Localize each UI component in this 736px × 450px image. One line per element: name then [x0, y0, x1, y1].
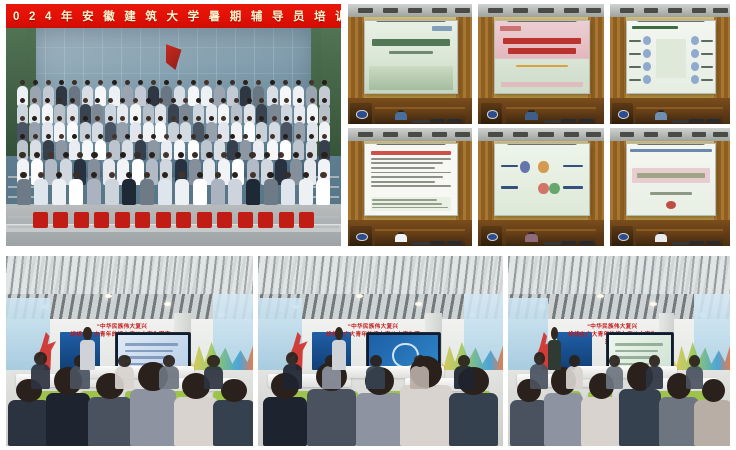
- banner-text: 2 0 2 4 年 安 徽 建 筑 大 学 暑 期 辅 导 员 培 训: [6, 8, 341, 24]
- wood-wall-right: [456, 17, 472, 97]
- midground-participant: [283, 364, 303, 389]
- seated-participant: [581, 397, 621, 446]
- ceiling: [610, 128, 730, 141]
- screen-roller: [376, 20, 446, 22]
- red-stool: [115, 212, 130, 228]
- participant-head: [163, 355, 175, 367]
- ceiling-light: [668, 132, 682, 137]
- seated-participant: [694, 400, 730, 446]
- stage-chair: [579, 241, 594, 245]
- participant-head: [414, 355, 426, 367]
- red-stool: [299, 212, 314, 228]
- diagram-label-left: [629, 66, 641, 68]
- downlight: [164, 302, 171, 306]
- stage-chair: [579, 119, 594, 123]
- seated-participant: [174, 397, 218, 446]
- seated-participant: [356, 393, 403, 446]
- ceiling: [478, 128, 604, 141]
- podium: [612, 226, 632, 246]
- screen-roller: [637, 143, 704, 145]
- lecture-panel-3[interactable]: [610, 4, 730, 124]
- participant-head: [286, 352, 298, 365]
- lecture-hall-scene: [348, 4, 472, 124]
- midground-participant: [204, 366, 224, 389]
- ceiling-light: [692, 132, 706, 137]
- laptop: [672, 242, 689, 245]
- stage-chair: [706, 119, 720, 123]
- slide-title-bar: [371, 151, 452, 155]
- diagram-center-box: [656, 39, 686, 78]
- presenter-head: [83, 327, 91, 340]
- slide-title-bar: [637, 173, 705, 179]
- podium: [481, 226, 502, 246]
- presenter-head: [335, 327, 343, 340]
- seated-participant: [544, 393, 584, 446]
- wood-wall-right: [714, 17, 730, 97]
- diagram-node-right: [691, 36, 699, 45]
- stage-chair: [689, 119, 703, 123]
- ceiling-light: [358, 8, 373, 13]
- midground-participant: [366, 366, 386, 389]
- red-stool: [279, 212, 294, 228]
- group-photo-image: 2 0 2 4 年 安 徽 建 筑 大 学 暑 期 辅 导 员 培 训: [6, 4, 341, 246]
- diagram-label-left: [629, 40, 641, 42]
- stage: [478, 98, 604, 124]
- ceiling-light: [620, 132, 634, 137]
- participant-head: [534, 352, 545, 365]
- seated-participant: [46, 393, 90, 446]
- ceiling-light: [513, 8, 528, 13]
- red-stool: [217, 212, 232, 228]
- ceiling-panel: [258, 256, 503, 294]
- ceiling-light: [408, 8, 423, 13]
- slide-note-line: [372, 203, 442, 205]
- seminar-room-panel-1[interactable]: “中华民族伟大复兴终将在广大青年的接力奋斗中变为现实”: [6, 256, 253, 446]
- downlight: [650, 302, 657, 306]
- slide-note-line: [372, 199, 436, 201]
- lecture-hall-scene: [610, 128, 730, 246]
- slide-seal-icon: [666, 201, 677, 209]
- slide-text-line: [371, 167, 435, 169]
- downlight: [356, 294, 363, 298]
- speaker-body: [395, 234, 407, 242]
- wood-wall-right: [588, 17, 604, 97]
- podium: [612, 103, 632, 124]
- slide-campus-image: [369, 66, 453, 90]
- ceiling: [610, 4, 730, 17]
- participant-head: [34, 352, 46, 365]
- lecture-hall-scene: [610, 4, 730, 124]
- diagram-node-left: [643, 62, 651, 71]
- ceiling-light: [564, 132, 579, 137]
- stage-chair: [706, 241, 720, 245]
- wall-slogan-line: “中华民族伟大复兴: [566, 323, 659, 331]
- red-stool: [135, 212, 150, 228]
- seated-participant: [88, 397, 132, 446]
- slide-heading: [632, 26, 678, 29]
- diagram-node-left: [643, 49, 651, 58]
- ceiling-light: [644, 8, 658, 13]
- banner: 2 0 2 4 年 安 徽 建 筑 大 学 暑 期 辅 导 员 培 训: [6, 4, 341, 28]
- group-photo-panel[interactable]: 2 0 2 4 年 安 徽 建 筑 大 学 暑 期 辅 导 员 培 训: [6, 4, 341, 246]
- seated-participant: [8, 400, 50, 446]
- seated-participant: [449, 393, 498, 446]
- ceiling-light: [488, 8, 503, 13]
- lecture-panel-2[interactable]: [478, 4, 604, 124]
- ceiling-light: [432, 132, 447, 137]
- slide-title-bar-2: [508, 48, 575, 54]
- screen-roller: [507, 20, 578, 22]
- participant-head: [689, 355, 700, 367]
- projection-screen: [494, 20, 589, 94]
- screen-roller: [507, 143, 578, 145]
- lecture-hall-scene: [478, 4, 604, 124]
- midground-participant: [159, 366, 179, 389]
- stage-chair: [430, 119, 445, 123]
- red-stool: [238, 212, 253, 228]
- wood-wall-left: [348, 141, 364, 220]
- wood-wall-right: [456, 141, 472, 220]
- slide-title-bar: [503, 38, 581, 44]
- seated-participant: [263, 397, 307, 446]
- crowd-rows: [16, 80, 331, 212]
- screen-roller: [376, 143, 446, 145]
- participant-head: [118, 355, 130, 367]
- slide-text-line: [371, 181, 435, 183]
- seated-participant: [659, 397, 699, 446]
- red-stool: [74, 212, 89, 228]
- speaker-body: [655, 112, 667, 120]
- speaker: [653, 110, 669, 121]
- topic-icon-left: [549, 183, 559, 194]
- slide-logo: [432, 26, 452, 32]
- midground-participant: [686, 366, 704, 389]
- slide-title-bar: [372, 39, 449, 45]
- midground-participant: [410, 366, 430, 389]
- diagram-node-left: [643, 75, 651, 84]
- projection-screen: [364, 143, 458, 216]
- speaker: [653, 232, 669, 242]
- diagram-node-left: [643, 36, 651, 45]
- screen-text-line: [615, 350, 658, 353]
- ceiling-light: [713, 132, 727, 137]
- wood-wall-left: [348, 17, 364, 97]
- red-stool: [258, 212, 273, 228]
- slide-accent-line: [516, 65, 568, 66]
- midground-participant: [115, 366, 135, 389]
- red-stool: [33, 212, 48, 228]
- projection-screen: [364, 20, 458, 94]
- slide-text-line: [371, 176, 444, 178]
- laptop: [544, 120, 562, 123]
- stage: [610, 220, 730, 246]
- stage-chair: [689, 241, 703, 245]
- lecture-panel-4[interactable]: [348, 128, 472, 246]
- ceiling-light: [620, 8, 634, 13]
- stage: [348, 220, 472, 246]
- slide-note-line: [372, 207, 447, 209]
- seminar-room-scene: “中华民族伟大复兴终将在广大青年的接力奋斗中变为现实”: [258, 256, 503, 446]
- speaker: [523, 232, 539, 242]
- laptop: [412, 120, 429, 123]
- wood-wall-left: [610, 141, 626, 220]
- wood-wall-left: [478, 17, 494, 97]
- seated-participant: [510, 400, 548, 446]
- speaker: [393, 232, 409, 242]
- midground-participant: [530, 364, 548, 389]
- red-stool: [176, 212, 191, 228]
- seated-participant: [213, 400, 253, 446]
- laptop: [672, 120, 689, 123]
- projection-screen: [494, 143, 589, 216]
- seated-participant: [400, 385, 451, 446]
- ceiling: [348, 128, 472, 141]
- lecture-hall-scene: [478, 128, 604, 246]
- lecture-panel-1[interactable]: [348, 4, 472, 124]
- topic-label-left: [501, 186, 518, 188]
- diagram-label-right: [701, 66, 713, 68]
- speaker-body: [525, 112, 537, 120]
- diagram-label-right: [701, 53, 713, 55]
- diagram-node-right: [691, 62, 699, 71]
- laptop: [544, 242, 562, 245]
- stage-chair: [447, 241, 462, 245]
- red-stool: [156, 212, 171, 228]
- projection-screen: [626, 143, 717, 216]
- ceiling-light: [455, 8, 470, 13]
- podium: [350, 226, 371, 246]
- projection-screen: [626, 20, 717, 94]
- wood-wall-left: [478, 141, 494, 220]
- red-stool-row: [33, 212, 314, 230]
- red-stool: [197, 212, 212, 228]
- midground-participant: [454, 366, 474, 389]
- presenter: [80, 340, 95, 370]
- ceiling: [478, 4, 604, 17]
- lecture-hall-scene: [348, 128, 472, 246]
- seminar-room-panel-3[interactable]: “中华民族伟大复兴终将在广大青年的接力奋斗中变为现实”: [508, 256, 730, 446]
- participant-head: [458, 355, 470, 367]
- downlight: [597, 294, 604, 298]
- ceiling-light: [383, 132, 398, 137]
- diagram-node-right: [691, 49, 699, 58]
- participant-head: [702, 379, 725, 403]
- ceiling-light: [692, 8, 706, 13]
- ceiling: [348, 4, 472, 17]
- ceiling-light: [538, 132, 553, 137]
- topic-label-left: [501, 165, 518, 167]
- diagram-label-right: [701, 79, 713, 81]
- seated-participant: [307, 389, 356, 446]
- wood-wall-left: [610, 17, 626, 97]
- podium: [481, 103, 502, 124]
- slide-subtitle-bar: [650, 192, 693, 195]
- ceiling-light: [488, 132, 503, 137]
- stage-chair: [430, 241, 445, 245]
- lecture-panel-5[interactable]: [478, 128, 604, 246]
- slide-text-line: [371, 172, 452, 174]
- slide-subtitle-bar: [389, 51, 433, 54]
- wood-wall-right: [714, 141, 730, 220]
- diagram-label-left: [629, 79, 641, 81]
- midground-participant: [606, 366, 624, 389]
- stage-chair: [561, 241, 576, 245]
- speaker-body: [655, 234, 667, 242]
- red-stool: [53, 212, 68, 228]
- ceiling-light: [358, 132, 373, 137]
- ceiling-panel: [508, 256, 730, 294]
- ceiling-panel: [6, 256, 253, 294]
- slide-text-line: [371, 158, 452, 160]
- diagram-node-right: [691, 75, 699, 84]
- slide-header-bar: [630, 149, 712, 153]
- participant-head: [207, 355, 219, 367]
- screen-text-line: [125, 343, 178, 346]
- ceiling-light: [644, 132, 658, 137]
- ceiling-light: [668, 8, 682, 13]
- participant-head: [370, 355, 382, 367]
- speaker-body: [395, 112, 407, 120]
- presenter: [548, 340, 561, 370]
- seated-participant: [619, 389, 661, 446]
- downlight: [105, 294, 112, 298]
- midground-participant: [646, 366, 664, 389]
- seated-participant: [130, 389, 177, 446]
- midground-participant: [566, 366, 584, 389]
- stage: [478, 220, 604, 246]
- speaker-body: [525, 234, 537, 242]
- screen-text-line: [615, 343, 663, 346]
- stage-chair: [561, 119, 576, 123]
- ceiling-light: [538, 8, 553, 13]
- presenter: [332, 340, 347, 370]
- slide-footer-band: [501, 82, 583, 87]
- screen-text-line: [125, 350, 173, 353]
- seminar-room-scene: “中华民族伟大复兴终将在广大青年的接力奋斗中变为现实”: [508, 256, 730, 446]
- podium: [350, 103, 371, 124]
- ceiling-light: [432, 8, 447, 13]
- ceiling-light: [455, 132, 470, 137]
- diagram-label-right: [701, 40, 713, 42]
- ceiling-light: [383, 8, 398, 13]
- topic-label-right: [563, 165, 584, 167]
- stage: [348, 98, 472, 124]
- red-stool: [94, 212, 109, 228]
- ceiling-light: [586, 8, 601, 13]
- topic-label-right: [563, 186, 584, 188]
- topic-icon-right: [538, 161, 548, 172]
- lecture-panel-6[interactable]: [610, 128, 730, 246]
- slide-logo: [500, 26, 521, 32]
- seminar-room-scene: “中华民族伟大复兴终将在广大青年的接力奋斗中变为现实”: [6, 256, 253, 446]
- midground-participant: [31, 364, 51, 389]
- stage-chair: [447, 119, 462, 123]
- stage: [610, 98, 730, 124]
- slide-text-line: [371, 185, 452, 187]
- ceiling-light: [564, 8, 579, 13]
- wood-wall-right: [588, 141, 604, 220]
- screen-roller: [637, 20, 704, 22]
- laptop: [412, 242, 429, 245]
- seminar-room-panel-2[interactable]: “中华民族伟大复兴终将在广大青年的接力奋斗中变为现实”: [258, 256, 503, 446]
- ceiling-light: [713, 8, 727, 13]
- topic-icon-right: [538, 183, 548, 194]
- diagram-label-left: [629, 53, 641, 55]
- topic-icon-left: [520, 161, 530, 172]
- speaker: [393, 110, 409, 121]
- screen-text-line: [615, 356, 654, 359]
- ceiling-light: [513, 132, 528, 137]
- ceiling-light: [586, 132, 601, 137]
- slide-text-line: [371, 162, 444, 164]
- screen-text-line: [125, 356, 168, 359]
- photo-collage: 2 0 2 4 年 安 徽 建 筑 大 学 暑 期 辅 导 员 培 训 “中华民…: [0, 0, 736, 450]
- ceiling-light: [408, 132, 423, 137]
- downlight: [415, 302, 422, 306]
- speaker: [523, 110, 539, 121]
